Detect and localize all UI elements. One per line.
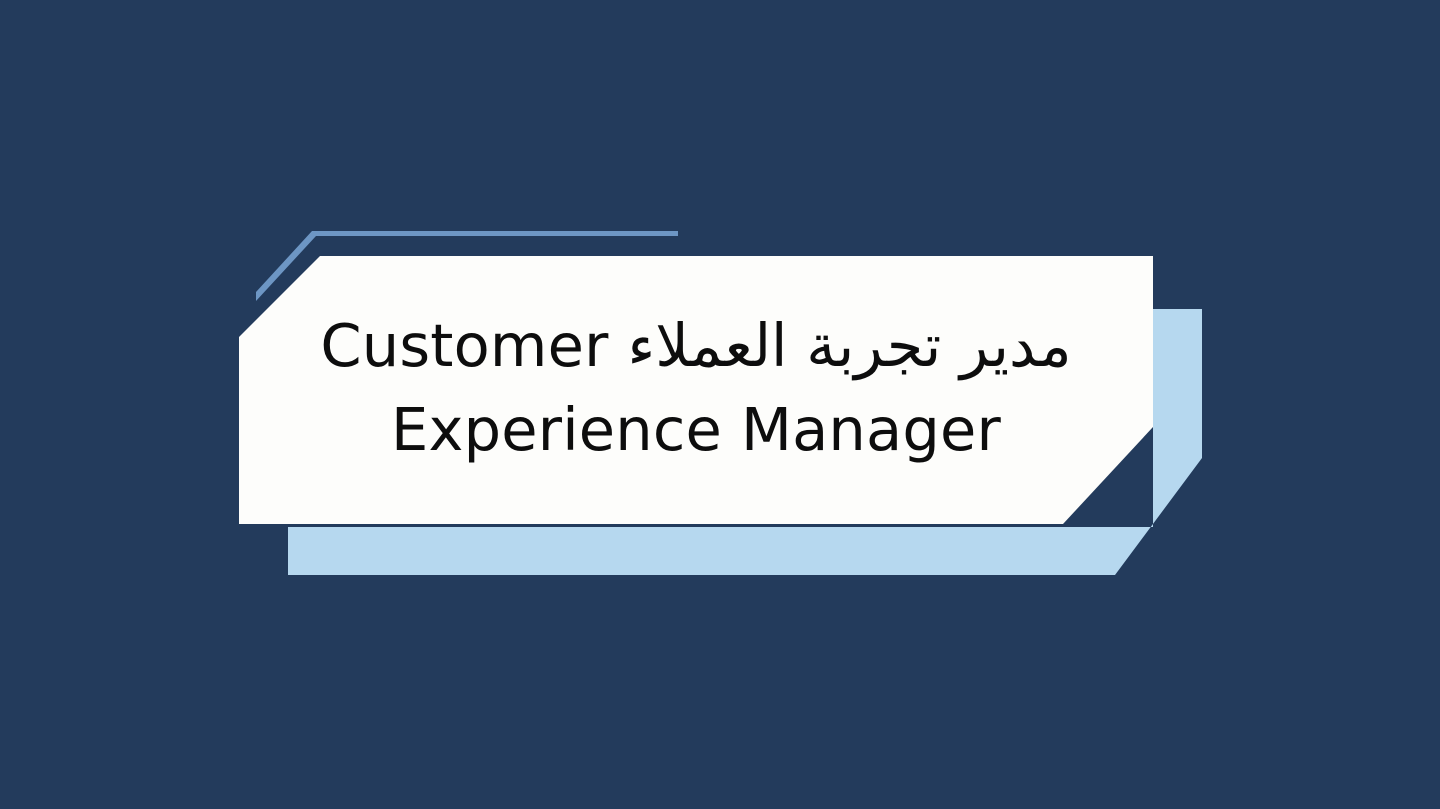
title-card: Customer مدير تجربة العملاء Experience M… — [239, 256, 1153, 524]
page-title: Customer مدير تجربة العملاء Experience M… — [316, 304, 1076, 476]
title-line-1-en: Customer — [320, 311, 608, 380]
title-line-1-ar: مدير تجربة العملاء — [628, 311, 1072, 380]
slide-canvas: Customer مدير تجربة العملاء Experience M… — [0, 0, 1440, 809]
title-line-2-en: Experience Manager — [391, 395, 1001, 464]
